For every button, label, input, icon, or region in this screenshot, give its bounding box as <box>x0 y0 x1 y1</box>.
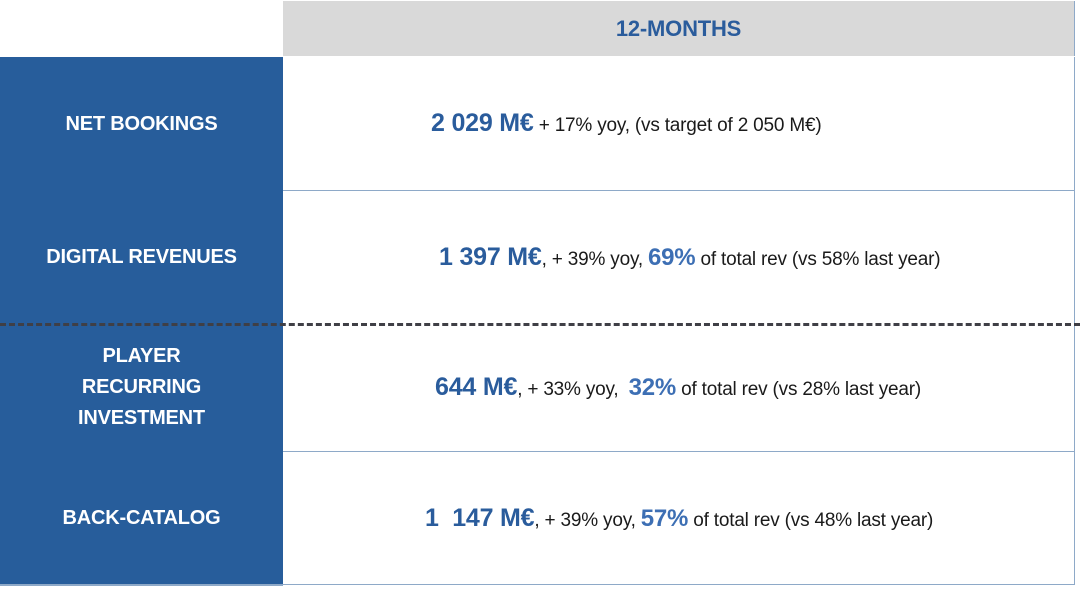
row-value-detail: + 17% yoy, (vs target of 2 050 M€) <box>534 115 822 136</box>
header-corner-cell <box>0 0 283 57</box>
row-value-digital-revenues: 1 397 M€, + 39% yoy, 69% of total rev (v… <box>283 190 1075 324</box>
label-column-bottom-border <box>0 584 283 586</box>
header-period-label: 12-MONTHS <box>616 16 741 42</box>
table-row: PLAYERRECURRINGINVESTMENT 644 M€, + 33% … <box>0 324 1080 451</box>
row-value-net-bookings: 2 029 M€ + 17% yoy, (vs target of 2 050 … <box>283 57 1075 190</box>
row-label-text: DIGITAL REVENUES <box>46 242 237 272</box>
row-label-back-catalog: BACK-CATALOG <box>0 451 283 584</box>
row-label-line-1: PLAYER <box>102 345 180 367</box>
row-value-comparison: of total rev (vs 48% last year) <box>688 510 933 531</box>
header-period-cell: 12-MONTHS <box>283 1 1075 56</box>
row-value-comparison: of total rev (vs 58% last year) <box>695 249 940 270</box>
table-row: NET BOOKINGS 2 029 M€ + 17% yoy, (vs tar… <box>0 57 1080 190</box>
row-value-text: 1 397 M€, + 39% yoy, 69% of total rev (v… <box>439 243 940 272</box>
table-header-row: 12-MONTHS <box>0 0 1080 57</box>
value-column-bottom-border <box>283 584 1075 585</box>
row-label-net-bookings: NET BOOKINGS <box>0 57 283 190</box>
row-value-headline: 1 397 M€ <box>439 243 542 271</box>
row-value-player-recurring-investment: 644 M€, + 33% yoy, 32% of total rev (vs … <box>283 324 1075 451</box>
row-label-text: NET BOOKINGS <box>65 109 217 139</box>
table-row: DIGITAL REVENUES 1 397 M€, + 39% yoy, 69… <box>0 190 1080 324</box>
dashed-section-divider <box>0 323 1080 326</box>
row-label-line-2: RECURRING <box>82 376 201 398</box>
row-label-digital-revenues: DIGITAL REVENUES <box>0 190 283 324</box>
row-value-detail: , + 39% yoy, <box>542 249 648 270</box>
row-value-text: 1 147 M€, + 39% yoy, 57% of total rev (v… <box>425 504 933 533</box>
kpi-summary-table: 12-MONTHS NET BOOKINGS 2 029 M€ + 17% yo… <box>0 0 1080 591</box>
row-value-share-pct: 69% <box>648 244 695 271</box>
table-row: BACK-CATALOG 1 147 M€, + 39% yoy, 57% of… <box>0 451 1080 584</box>
row-label-text: BACK-CATALOG <box>63 503 221 533</box>
row-value-text: 2 029 M€ + 17% yoy, (vs target of 2 050 … <box>431 109 821 138</box>
row-label-text: PLAYERRECURRINGINVESTMENT <box>78 341 205 434</box>
row-value-headline: 1 147 M€ <box>425 504 534 532</box>
row-value-comparison: of total rev (vs 28% last year) <box>676 379 921 400</box>
row-value-detail: , + 39% yoy, <box>534 510 640 531</box>
row-value-detail: , + 33% yoy, <box>517 379 628 400</box>
row-label-player-recurring-investment: PLAYERRECURRINGINVESTMENT <box>0 324 283 451</box>
row-value-text: 644 M€, + 33% yoy, 32% of total rev (vs … <box>435 373 921 402</box>
row-value-headline: 644 M€ <box>435 373 517 401</box>
row-value-share-pct: 32% <box>629 374 676 401</box>
row-label-line-3: INVESTMENT <box>78 407 205 429</box>
row-value-share-pct: 57% <box>641 505 688 532</box>
row-value-back-catalog: 1 147 M€, + 39% yoy, 57% of total rev (v… <box>283 451 1075 584</box>
row-value-headline: 2 029 M€ <box>431 109 534 137</box>
